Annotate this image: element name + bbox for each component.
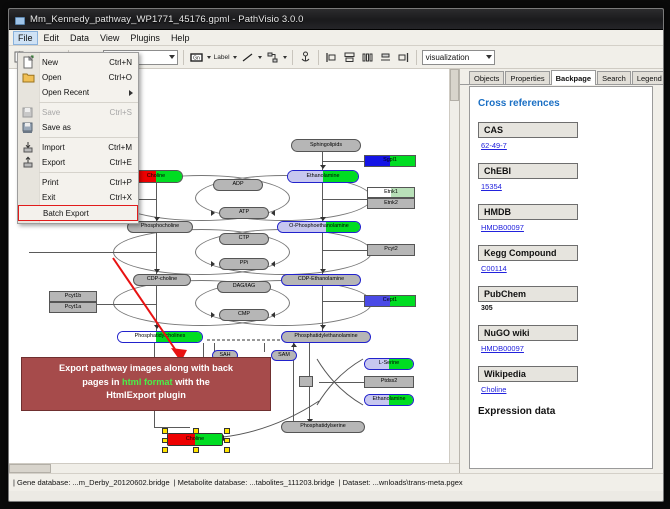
arrowhead-etn-2: [320, 269, 326, 273]
menu-item-open-recent[interactable]: Open Recent: [18, 85, 138, 100]
align-center-icon[interactable]: [342, 50, 357, 65]
svg-text:Gn: Gn: [193, 55, 200, 61]
node-ppi[interactable]: PPi: [219, 258, 269, 270]
arrowhead-ppi-left: [211, 261, 215, 267]
handle-s[interactable]: [193, 447, 199, 453]
callout-line-2: pages in html format with the: [28, 376, 264, 390]
menu-edit[interactable]: Edit: [39, 31, 65, 45]
menu-help[interactable]: Help: [166, 31, 195, 45]
annotation-callout: Export pathway images along with back pa…: [21, 357, 271, 411]
handle-ne[interactable]: [224, 428, 230, 434]
tab-backpage[interactable]: Backpage: [551, 70, 596, 85]
menu-item-new-accel: Ctrl+N: [109, 58, 138, 67]
tab-properties[interactable]: Properties: [505, 71, 549, 84]
line-dropdown-icon[interactable]: [258, 56, 262, 59]
menu-item-save-label: Save: [39, 108, 110, 117]
label-dropdown-icon[interactable]: [233, 56, 237, 59]
menu-item-export-label: Export: [39, 158, 110, 167]
submenu-chevron-icon: [129, 90, 133, 96]
visualization-value: visualization: [426, 53, 470, 62]
tab-search[interactable]: Search: [597, 71, 631, 84]
arrowhead-pe-up: [291, 343, 297, 347]
node-ptdss2[interactable]: Ptdss2: [364, 376, 414, 388]
pathvisio-icon: [14, 14, 25, 25]
menu-item-export[interactable]: Export Ctrl+E: [18, 155, 138, 170]
callout-line-1: Export pathway images along with back: [28, 362, 264, 376]
tab-objects[interactable]: Objects: [469, 71, 504, 84]
distribute-icon[interactable]: [360, 50, 375, 65]
edge-left-stub-2: [29, 252, 157, 253]
menu-plugins[interactable]: Plugins: [125, 31, 165, 45]
node-pcyt1a[interactable]: Pcyt1a: [49, 302, 97, 313]
menu-view[interactable]: View: [95, 31, 124, 45]
menu-item-exit-label: Exit: [39, 193, 110, 202]
edge-etnk-stub: [323, 199, 367, 200]
xref-label-cas: CAS: [478, 122, 578, 138]
menu-item-export-accel: Ctrl+E: [110, 158, 138, 167]
align-left-icon[interactable]: [324, 50, 339, 65]
node-o-phosphoethanolamine[interactable]: O-Phosphoethanolamine: [277, 221, 361, 233]
node-ctp[interactable]: CTP: [219, 233, 269, 245]
batch-export-icon: [19, 206, 40, 221]
arrowhead-atp-left: [211, 210, 215, 216]
node-sgpl1[interactable]: Sgpl1: [364, 155, 416, 167]
node-etnk2[interactable]: Etnk2: [367, 198, 415, 209]
callout-line-2-b: with the: [173, 377, 210, 387]
node-phosphatidylserine[interactable]: Phosphatidylserine: [281, 421, 365, 433]
status-dataset: | Dataset: ...wnloads\trans-meta.pgex: [339, 478, 463, 487]
xref-hmdb: HMDB HMDB00097: [478, 202, 652, 232]
title-bar: Mm_Kennedy_pathway_WP1771_45176.gpml - P…: [9, 9, 663, 30]
menu-item-open-recent-label: Open Recent: [39, 88, 138, 97]
sidebar-tabs: Objects Properties Backpage Search Legen…: [460, 69, 663, 85]
status-metabolite-database: | Metabolite database: ...tabolites_1112…: [174, 478, 335, 487]
chevron-down-icon: [169, 55, 175, 59]
node-cmp[interactable]: CMP: [219, 309, 269, 321]
new-file-icon: [18, 55, 39, 70]
canvas-vscroll-thumb[interactable]: [450, 69, 459, 101]
xref-label-hmdb: HMDB: [478, 204, 578, 220]
node-phosphatidylethanolamine[interactable]: Phosphatidylethanolamine: [281, 331, 371, 343]
backpage-panel: Cross references CAS 62-49-7 ChEBI 15354…: [469, 86, 653, 469]
menu-separator-1: [39, 102, 138, 103]
menu-separator-2: [39, 137, 138, 138]
toolbar-separator-4: [318, 50, 319, 65]
edge-cept1-stub: [323, 301, 365, 302]
status-gene-database: | Gene database: ...m_Derby_20120602.bri…: [13, 478, 170, 487]
node-cdp-ethanolamine[interactable]: CDP-Ethanolamine: [281, 274, 361, 286]
handle-nw[interactable]: [162, 428, 168, 434]
arrowhead-sphingo: [320, 165, 326, 169]
xref-label-pubchem: PubChem: [478, 286, 578, 302]
node-sphingolipids[interactable]: Sphingolipids: [291, 139, 361, 152]
node-l-serine[interactable]: L-Serine: [364, 358, 414, 370]
node-etnk1[interactable]: Etnk1: [367, 187, 415, 198]
annotation-red-arrow: [109, 254, 199, 374]
canvas-horizontal-scrollbar[interactable]: [9, 463, 459, 473]
menu-item-open-label: Open: [39, 73, 109, 82]
node-adp[interactable]: ADP: [213, 179, 263, 191]
catalysis-dashed-line: [205, 335, 291, 345]
node-ethanolamine-low[interactable]: Ethanolamine: [364, 394, 414, 406]
toolbar-separator-3: [292, 50, 293, 65]
node-atp[interactable]: ATP: [219, 207, 269, 219]
node-dag-iag[interactable]: DAG/IAG: [217, 281, 271, 293]
print-icon: [18, 175, 39, 190]
file-menu-popup[interactable]: New Ctrl+N Open Ctrl+O Open Recent Save …: [17, 52, 139, 224]
xref-chebi: ChEBI 15354: [478, 161, 652, 191]
node-choline-selected[interactable]: Choline: [167, 433, 223, 446]
menu-item-import-label: Import: [39, 143, 108, 152]
line-tool-icon[interactable]: [240, 50, 255, 65]
canvas-hscroll-thumb[interactable]: [9, 464, 51, 473]
interaction-dropdown-icon[interactable]: [283, 56, 287, 59]
canvas-vertical-scrollbar[interactable]: [449, 69, 459, 473]
xref-cas: CAS 62-49-7: [478, 120, 652, 150]
ptdss2-anchor[interactable]: [299, 376, 313, 387]
menu-item-open[interactable]: Open Ctrl+O: [18, 70, 138, 85]
cross-references-title: Cross references: [470, 87, 652, 109]
xref-label-wikipedia: Wikipedia: [478, 366, 578, 382]
menu-item-save-as[interactable]: Save as: [18, 120, 138, 135]
menu-item-new-label: New: [39, 58, 109, 67]
anchor-icon[interactable]: [298, 50, 313, 65]
node-pcyt1b[interactable]: Pcyt1b: [49, 291, 97, 302]
xref-value-pubchem: 305: [481, 305, 652, 312]
callout-highlight: html format: [122, 377, 173, 387]
application-window: Mm_Kennedy_pathway_WP1771_45176.gpml - P…: [8, 8, 664, 502]
arrowhead-cmp-left: [211, 312, 215, 318]
xref-value-hmdb[interactable]: HMDB00097: [481, 223, 652, 232]
menu-item-exit[interactable]: Exit Ctrl+X: [18, 190, 138, 205]
node-ethanolamine-top[interactable]: Ethanolamine: [287, 170, 359, 183]
menu-item-save-accel: Ctrl+S: [110, 108, 138, 117]
toolbar-separator-2: [183, 50, 184, 65]
node-sam[interactable]: SAM: [271, 350, 297, 361]
window-title: Mm_Kennedy_pathway_WP1771_45176.gpml - P…: [30, 14, 304, 25]
menu-item-print[interactable]: Print Ctrl+P: [18, 175, 138, 190]
screenshot-root: Mm_Kennedy_pathway_WP1771_45176.gpml - P…: [0, 0, 670, 509]
menu-item-new[interactable]: New Ctrl+N: [18, 55, 138, 70]
arrowhead-cmp-right: [271, 312, 275, 318]
xref-value-nugo[interactable]: HMDB00097: [481, 344, 652, 353]
toolbar-separator-5: [416, 50, 417, 65]
align-right-icon[interactable]: [396, 50, 411, 65]
callout-line-3: HtmlExport plugin: [28, 389, 264, 403]
handle-e[interactable]: [224, 438, 230, 444]
handle-sw[interactable]: [162, 447, 168, 453]
menu-file[interactable]: File: [13, 31, 38, 45]
export-icon: [18, 155, 39, 170]
xref-value-kegg[interactable]: C00114: [481, 264, 652, 273]
arrowhead-etn-3: [320, 325, 326, 329]
right-sidebar: Objects Properties Backpage Search Legen…: [460, 69, 663, 473]
gene-dropdown-icon[interactable]: [207, 56, 211, 59]
chevron-down-icon-2: [486, 55, 492, 59]
label-tool-label[interactable]: Label: [214, 54, 230, 61]
xref-value-wikipedia[interactable]: Choline: [481, 385, 652, 394]
visualization-combo[interactable]: visualization: [422, 50, 495, 65]
interaction-tool-icon[interactable]: [265, 50, 280, 65]
xref-value-chebi[interactable]: 15354: [481, 182, 652, 191]
expression-data-title: Expression data: [478, 406, 652, 417]
menu-separator-3: [39, 172, 138, 173]
menu-item-exit-accel: Ctrl+X: [110, 193, 138, 202]
open-recent-icon: [18, 85, 39, 100]
node-cept1[interactable]: Cept1: [364, 295, 416, 307]
stack-icon[interactable]: [378, 50, 393, 65]
save-as-icon: [18, 120, 39, 135]
import-icon: [18, 140, 39, 155]
menu-item-print-accel: Ctrl+P: [110, 178, 138, 187]
menu-item-batch-export[interactable]: Batch Export: [18, 205, 138, 221]
menu-item-open-accel: Ctrl+O: [109, 73, 138, 82]
xref-wikipedia: Wikipedia Choline: [478, 364, 652, 394]
menu-data[interactable]: Data: [65, 31, 94, 45]
edge-sgpl1-stub: [323, 161, 365, 162]
edge-pcyt2-stub: [323, 250, 367, 251]
menu-item-print-label: Print: [39, 178, 110, 187]
xref-label-chebi: ChEBI: [478, 163, 578, 179]
xref-label-nugo: NuGO wiki: [478, 325, 578, 341]
arrowhead-ppi-right: [271, 261, 275, 267]
tab-legend[interactable]: Legend: [632, 71, 664, 84]
folder-open-icon: [18, 70, 39, 85]
status-bar: | Gene database: ...m_Derby_20120602.bri…: [9, 473, 663, 491]
xref-pubchem: PubChem 305: [478, 284, 652, 312]
handle-w[interactable]: [162, 438, 168, 444]
menu-item-save-as-label: Save as: [39, 123, 132, 132]
menu-item-batch-export-label: Batch Export: [40, 209, 137, 218]
edge-ptdss2-stub: [319, 382, 365, 383]
node-pcyt2[interactable]: Pcyt2: [367, 244, 415, 256]
edge-etn-down-2: [322, 227, 323, 275]
menu-item-import-accel: Ctrl+M: [108, 143, 138, 152]
xref-label-kegg: Kegg Compound: [478, 245, 578, 261]
xref-nugo: NuGO wiki HMDB00097: [478, 323, 652, 353]
menu-bar: File Edit Data View Plugins Help: [9, 30, 663, 46]
xref-value-cas[interactable]: 62-49-7: [481, 141, 652, 150]
arrowhead-atp-right: [271, 210, 275, 216]
exit-icon: [18, 190, 39, 205]
menu-item-save[interactable]: Save Ctrl+S: [18, 105, 138, 120]
xref-kegg: Kegg Compound C00114: [478, 243, 652, 273]
save-icon-menu: [18, 105, 39, 120]
handle-se[interactable]: [224, 447, 230, 453]
gene-product-icon[interactable]: Gn: [189, 50, 204, 65]
callout-line-2-a: pages in: [82, 377, 122, 387]
handle-n[interactable]: [193, 428, 199, 434]
menu-item-import[interactable]: Import Ctrl+M: [18, 140, 138, 155]
